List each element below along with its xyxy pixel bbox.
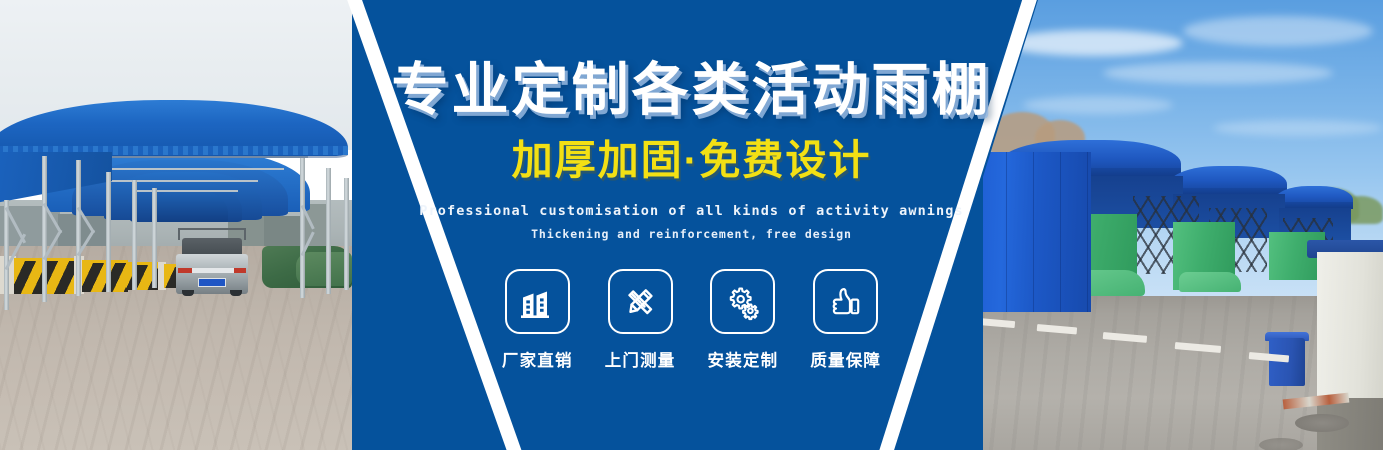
- feature-label: 安装定制: [708, 347, 779, 371]
- feature-item-factory-direct[interactable]: 厂家直销: [502, 269, 573, 371]
- feature-item-install-custom[interactable]: 安装定制: [708, 269, 779, 371]
- feature-item-onsite-measure[interactable]: 上门测量: [605, 269, 676, 371]
- feature-label: 厂家直销: [502, 347, 573, 371]
- feature-icon-box: [505, 269, 570, 334]
- factory-building-icon: [517, 282, 557, 322]
- feature-icon-box: [813, 269, 878, 334]
- feature-icon-box: [608, 269, 673, 334]
- feature-item-quality-guarantee[interactable]: 质量保障: [810, 269, 881, 371]
- banner-tagline-en-secondary: Thickening and reinforcement, free desig…: [531, 227, 852, 241]
- feature-list: 厂家直销 上门测量: [502, 269, 881, 371]
- banner-content: 专业定制各类活动雨棚 加厚加固·免费设计 Professional custom…: [0, 0, 1383, 450]
- ruler-pencil-icon: [620, 282, 660, 322]
- feature-label: 上门测量: [605, 347, 676, 371]
- feature-label: 质量保障: [810, 347, 881, 371]
- feature-icon-box: [710, 269, 775, 334]
- banner-subheadline: 加厚加固·免费设计: [512, 140, 872, 181]
- thumbs-up-icon: [826, 282, 866, 322]
- banner-tagline-en-primary: Professional customisation of all kinds …: [419, 203, 963, 219]
- promo-banner: 专业定制各类活动雨棚 加厚加固·免费设计 Professional custom…: [0, 0, 1383, 450]
- gears-icon: [723, 282, 763, 322]
- banner-headline: 专业定制各类活动雨棚: [392, 62, 992, 119]
